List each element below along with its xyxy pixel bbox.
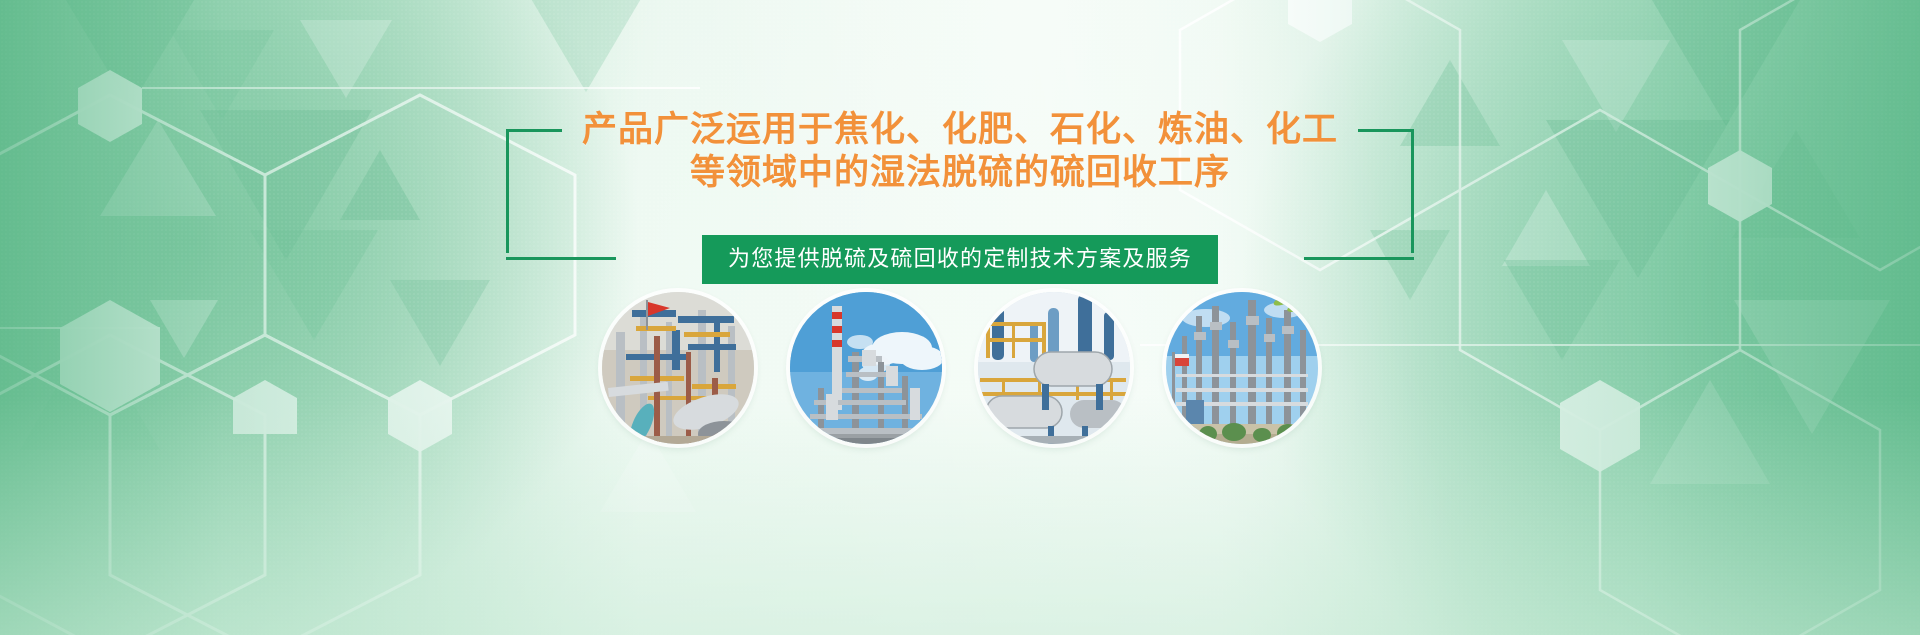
promo-banner: 产品广泛运用于焦化、化肥、石化、炼油、化工 等领域中的湿法脱硫的硫回收工序 为您… <box>0 0 1920 635</box>
photo-refinery-distillation-columns[interactable] <box>1166 292 1318 444</box>
photo-desulfurization-vessels-platform[interactable] <box>978 292 1130 444</box>
photo-chemical-plant-stack-blue-sky[interactable] <box>790 292 942 444</box>
headline-text: 产品广泛运用于焦化、化肥、石化、炼油、化工 等领域中的湿法脱硫的硫回收工序 <box>582 108 1338 194</box>
headline-bracket-row: 产品广泛运用于焦化、化肥、石化、炼油、化工 等领域中的湿法脱硫的硫回收工序 为您… <box>510 108 1410 194</box>
headline-line-1: 产品广泛运用于焦化、化肥、石化、炼油、化工 <box>582 108 1338 151</box>
photo-strip <box>0 292 1920 444</box>
bracket-right-stem <box>1411 129 1414 253</box>
headline-line-2: 等领域中的湿法脱硫的硫回收工序 <box>582 151 1338 194</box>
bracket-top-right <box>1358 129 1414 132</box>
bracket-bottom-left <box>506 257 616 260</box>
bracket-bottom-right <box>1304 257 1414 260</box>
bracket-top-left <box>506 129 562 132</box>
photo-sulfur-recovery-plant-piping[interactable] <box>602 292 754 444</box>
headline-block: 产品广泛运用于焦化、化肥、石化、炼油、化工 等领域中的湿法脱硫的硫回收工序 为您… <box>0 108 1920 194</box>
subtitle-bar: 为您提供脱硫及硫回收的定制技术方案及服务 <box>702 235 1218 284</box>
bracket-left-stem <box>506 129 509 253</box>
